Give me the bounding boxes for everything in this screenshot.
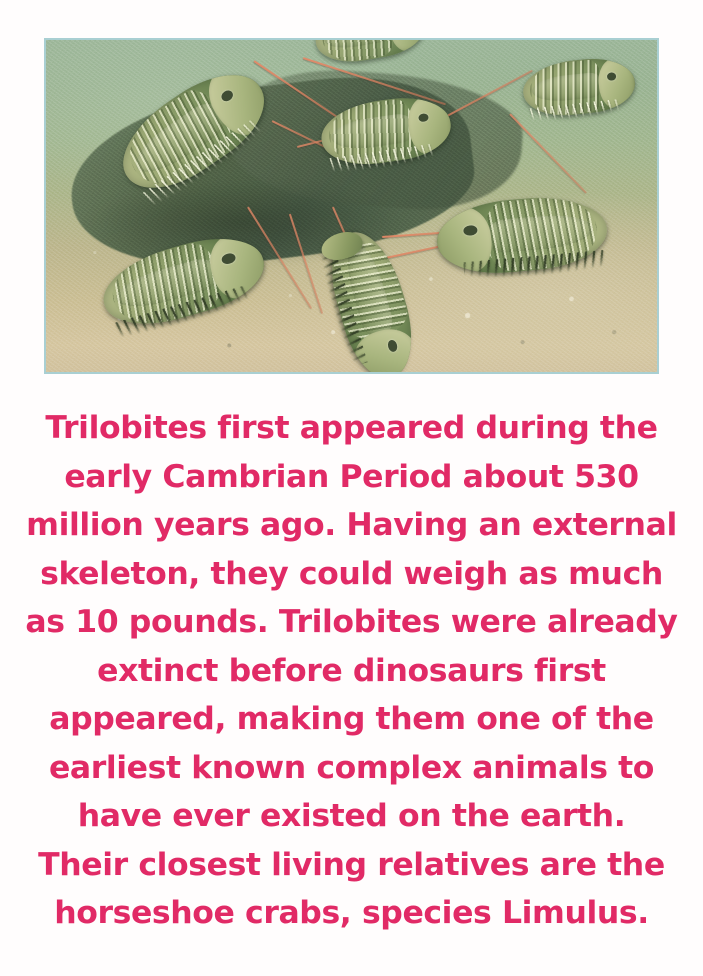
caption-line: appeared, making them one of the <box>0 695 703 744</box>
caption-line: extinct before dinosaurs first <box>0 647 703 696</box>
caption-line: Trilobites first appeared during the <box>0 404 703 453</box>
trilobite-photo-frame <box>44 38 659 374</box>
trilobite-top-right <box>520 54 637 119</box>
caption-line: horseshoe crabs, species Limulus. <box>0 889 703 938</box>
caption-line: early Cambrian Period about 530 <box>0 453 703 502</box>
caption-text-block: Trilobites first appeared during the ear… <box>0 404 703 938</box>
fact-card-page: Trilobites first appeared during the ear… <box>0 0 703 976</box>
caption-line: Their closest living relatives are the <box>0 841 703 890</box>
caption-line: million years ago. Having an external <box>0 501 703 550</box>
trilobite-eye <box>606 72 616 80</box>
trilobite-right <box>434 192 610 279</box>
trilobite-photograph <box>46 40 657 372</box>
caption-line: earliest known complex animals to <box>0 744 703 793</box>
caption-line: as 10 pounds. Trilobites were already <box>0 598 703 647</box>
caption-line: skeleton, they could weigh as much <box>0 550 703 599</box>
caption-line: have ever existed on the earth. <box>0 792 703 841</box>
